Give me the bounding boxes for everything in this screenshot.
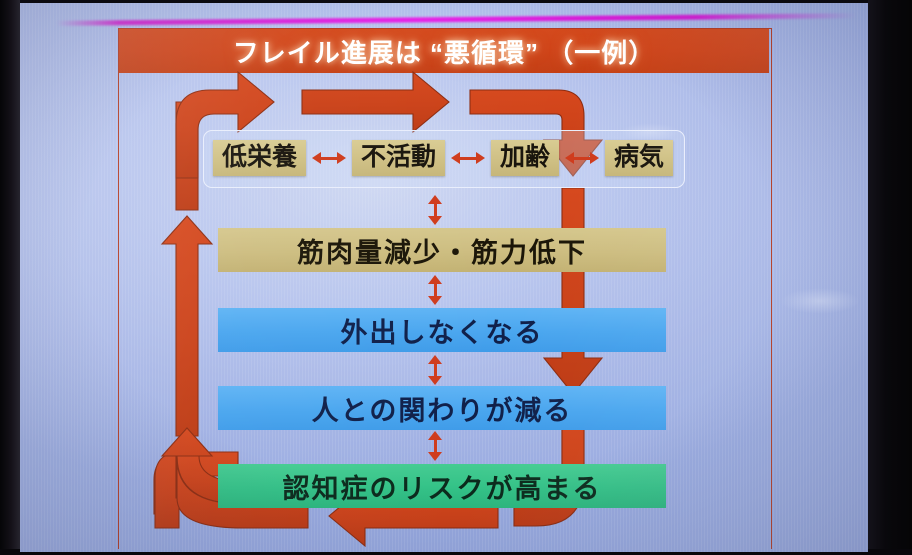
- projection-screen: フレイル進展は “悪循環” （一例）: [20, 3, 868, 552]
- bar-label: 認知症のリスクが高まる: [283, 467, 602, 506]
- bar-label: 筋肉量減少・筋力低下: [297, 231, 587, 270]
- double-arrow-vertical-icon: [423, 192, 447, 228]
- bar-stop-going-out[interactable]: 外出しなくなる: [218, 308, 666, 352]
- bar-less-social-contact[interactable]: 人との関わりが減る: [218, 386, 666, 430]
- bar-label: 外出しなくなる: [341, 311, 544, 350]
- double-arrow-horizontal-icon: [559, 146, 605, 170]
- double-arrow-horizontal-icon: [445, 146, 491, 170]
- slide-canvas: フレイル進展は “悪循環” （一例）: [0, 0, 912, 555]
- screenshot-stage: フレイル進展は “悪循環” （一例）: [0, 0, 912, 555]
- bar-label: 人との関わりが減る: [312, 389, 573, 428]
- chip-inactivity[interactable]: 不活動: [352, 140, 445, 176]
- factor-chip-row: 低栄養 不活動 加齢 病気: [203, 130, 683, 186]
- double-arrow-horizontal-icon: [306, 146, 352, 170]
- bar-dementia-risk[interactable]: 認知症のリスクが高まる: [218, 464, 666, 508]
- chip-illness[interactable]: 病気: [605, 140, 673, 176]
- double-arrow-vertical-icon: [423, 272, 447, 308]
- slide-title-bar: フレイル進展は “悪循環” （一例）: [119, 29, 769, 73]
- chip-low-nutrition[interactable]: 低栄養: [213, 140, 306, 176]
- page-title: フレイル進展は “悪循環” （一例）: [233, 33, 655, 70]
- double-arrow-vertical-icon: [423, 352, 447, 388]
- chip-aging[interactable]: 加齢: [491, 140, 559, 176]
- bar-muscle-loss[interactable]: 筋肉量減少・筋力低下: [218, 228, 666, 272]
- double-arrow-vertical-icon: [423, 428, 447, 464]
